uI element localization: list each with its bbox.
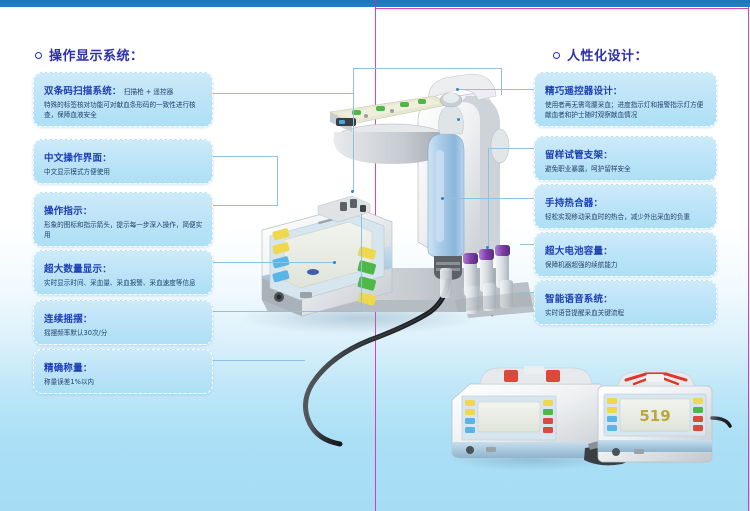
callout-left-2[interactable]: 操作指示： 形象的图标和指示箭头，提示每一步深入操作，简便实用 (33, 192, 213, 247)
hotspot-screen (333, 261, 336, 264)
callout-colon: ： (102, 154, 111, 164)
connector-right-3-h (520, 244, 534, 245)
callout-right-1[interactable]: 留样试管支架： 避免职业暴露，呵护留样安全 (534, 136, 717, 181)
connector-left-3-h (213, 262, 335, 263)
callout-right-4[interactable]: 智能语音系统： 实时语音提醒采血关键流程 (534, 280, 717, 325)
left-section-heading: 操作显示系统： (35, 45, 144, 64)
callout-colon: ： (603, 295, 612, 305)
callout-title: 精确称量 (44, 363, 83, 374)
bullet-icon (553, 52, 560, 59)
callout-inline-desc: 扫描枪 + 遥控器 (121, 88, 173, 96)
callout-title: 精巧遥控器设计 (545, 86, 613, 97)
callout-title: 留样试管支架 (545, 150, 603, 161)
callout-title: 超大电池容量 (545, 246, 603, 257)
callout-right-2[interactable]: 手持热合器： 轻松实现移动采血时的热合，减少外出采血的负重 (534, 184, 717, 229)
connector-left-2-h (213, 205, 277, 206)
callout-right-0[interactable]: 精巧遥控器设计： 使用者再无需弯腰采血；进度指示灯和报警指示灯方便献血者和护士随… (534, 72, 717, 127)
callout-title: 连续摇摆 (44, 314, 83, 325)
callout-colon: ： (603, 247, 612, 257)
callout-title: 手持热合器 (545, 198, 594, 209)
hotspot-plate (457, 118, 460, 121)
callout-colon: ： (594, 199, 603, 209)
callout-left-4[interactable]: 连续摇摆： 摇摆频率默认30次/分 (33, 300, 213, 345)
right-section-heading: 人性化设计： (553, 45, 648, 64)
hotspot-remote-head (456, 88, 459, 91)
callout-title: 中文操作界面 (44, 153, 102, 164)
callout-desc: 摇摆频率默认30次/分 (44, 328, 203, 338)
connector-left-0-h (213, 93, 353, 94)
secondary-screen-reading: 519 (639, 407, 670, 425)
callout-desc: 称量误差1%以内 (44, 377, 203, 387)
connector-right-0-h (458, 89, 534, 90)
callout-colon: ： (603, 151, 612, 161)
connector-left-1-h (213, 156, 277, 157)
callout-colon: ： (83, 364, 92, 374)
callout-left-3[interactable]: 超大数量显示： 实时显示时间、采血量、采血报警、采血速度等信息 (33, 250, 213, 295)
callout-desc: 形象的图标和指示箭头，提示每一步深入操作，简便实用 (44, 220, 203, 240)
callout-title: 双条码扫描系统 (44, 86, 112, 97)
hotspot-console-top (351, 190, 354, 193)
callout-desc: 使用者再无需弯腰采血；进度指示灯和报警指示灯方便献血者和护士随时观察献血情况 (545, 100, 707, 120)
connector-left-1-v (277, 156, 278, 206)
callout-desc: 避免职业暴露，呵护留样安全 (545, 164, 707, 174)
callout-desc: 实时语音提醒采血关键流程 (545, 308, 707, 318)
callout-left-0[interactable]: 双条码扫描系统：扫描枪 + 遥控器 特殊的标签核对功能可对献血条形码的一致性进行… (33, 72, 213, 127)
infographic-canvas: 519 操作显示系统： 人性化设计： (0, 0, 750, 511)
connector-left-4-h (213, 311, 361, 312)
guide-line-top-right (375, 8, 749, 9)
callout-desc: 实时显示时间、采血量、采血报警、采血速度等信息 (44, 278, 203, 288)
guide-line-center (375, 0, 376, 511)
hotspot-tube-rack (486, 246, 489, 249)
connector-left-0-v2 (501, 68, 502, 95)
callout-desc: 中文显示模式方便使用 (44, 167, 203, 177)
hotspot-sealer (441, 197, 444, 200)
bullet-icon (35, 52, 42, 59)
connector-right-4-h (520, 292, 534, 293)
connector-right-2-h (443, 198, 534, 199)
connector-left-5-h (213, 360, 305, 361)
callout-desc: 轻松实现移动采血时的热合，减少外出采血的负重 (545, 212, 707, 222)
callout-desc: 保障机器超强的续航能力 (545, 260, 707, 270)
connector-left-4-v (361, 214, 362, 312)
callout-left-1[interactable]: 中文操作界面： 中文显示模式方便使用 (33, 139, 213, 184)
callout-title: 操作指示 (44, 206, 83, 217)
callout-colon: ： (83, 207, 92, 217)
callout-colon: ： (613, 87, 622, 97)
callout-colon: ： (112, 87, 121, 97)
callout-title: 智能语音系统 (545, 294, 603, 305)
connector-left-0-drop (353, 93, 354, 191)
callout-right-3[interactable]: 超大电池容量： 保障机器超强的续航能力 (534, 232, 717, 277)
callout-colon: ： (102, 265, 111, 275)
connector-left-0-h2 (353, 68, 501, 69)
callout-colon: ： (83, 315, 92, 325)
callout-left-5[interactable]: 精确称量： 称量误差1%以内 (33, 349, 213, 394)
guide-line-right (748, 7, 749, 511)
callout-title: 超大数量显示 (44, 264, 102, 275)
connector-left-0-v (353, 68, 354, 94)
connector-right-1-h (488, 148, 534, 149)
callout-desc: 特殊的标签核对功能可对献血条形码的一致性进行核查，保障血液安全 (44, 100, 203, 120)
